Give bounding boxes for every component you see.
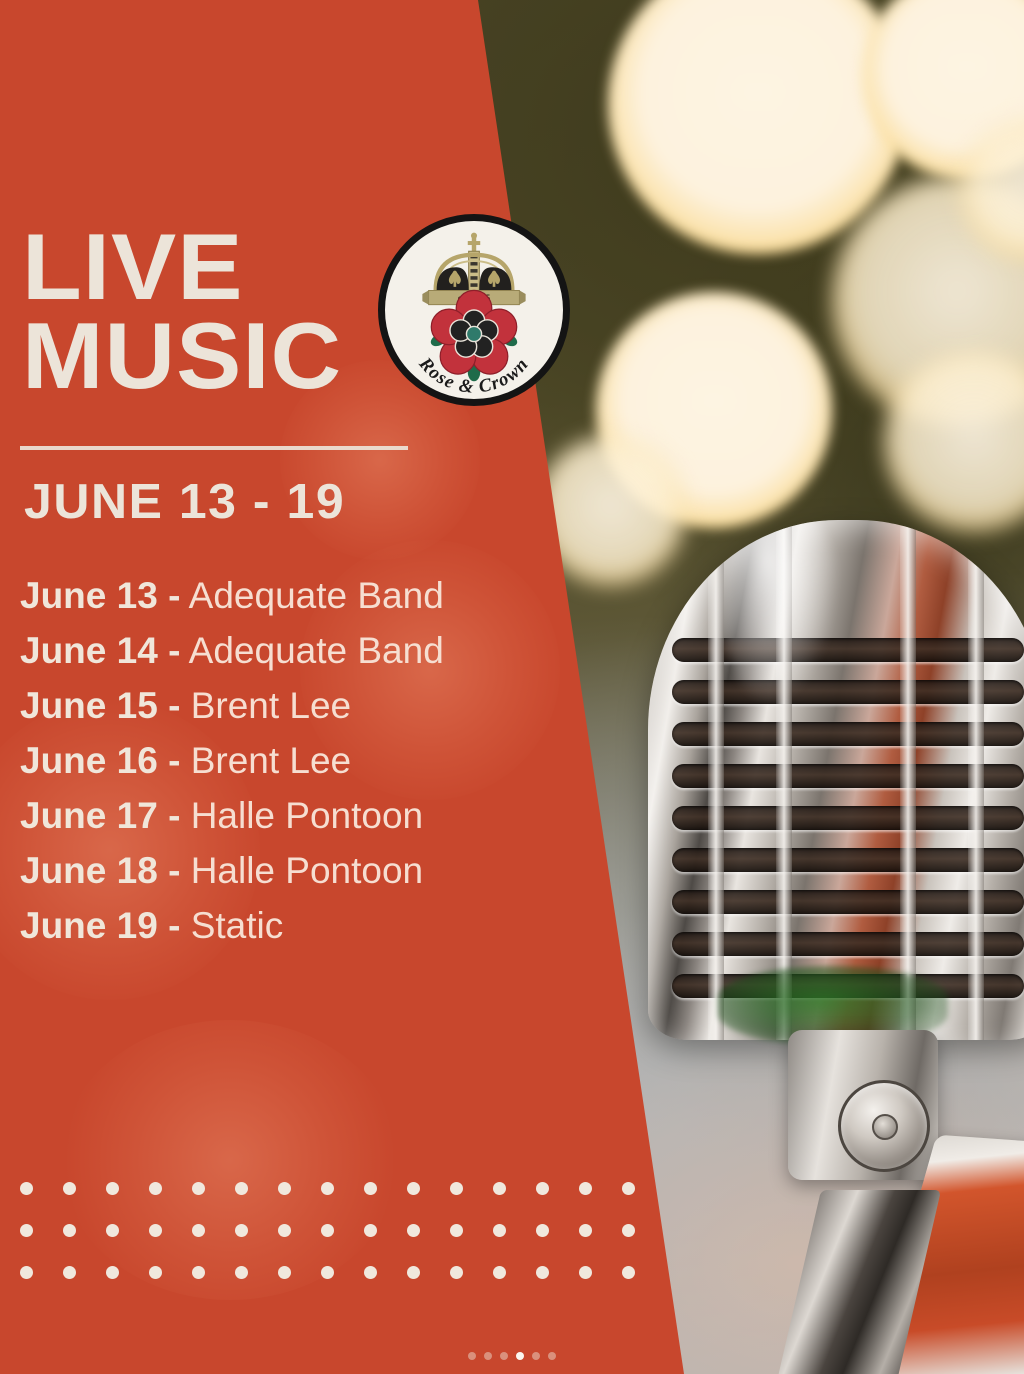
schedule-act: Brent Lee [191,685,351,726]
schedule-date: June 14 [20,630,158,671]
divider [20,446,408,450]
rose-and-crown-logo: est. 1965 [378,214,570,406]
decor-dot [278,1266,291,1279]
decor-dot [364,1266,377,1279]
decor-dot [321,1182,334,1195]
live-music-poster: LIVE MUSIC JUNE 13 - 19 June 13 - Adequa… [0,0,1024,1374]
decor-dot [235,1266,248,1279]
schedule-date: June 15 [20,685,158,726]
decor-dot [106,1182,119,1195]
list-item: June 15 - Brent Lee [20,678,540,733]
decor-dot [493,1182,506,1195]
decor-dot [321,1266,334,1279]
pagination-indicator[interactable] [0,1352,1024,1360]
decor-dot [149,1224,162,1237]
decor-dot [106,1266,119,1279]
decor-dot [321,1224,334,1237]
list-item: June 19 - Static [20,898,540,953]
decor-dot [63,1182,76,1195]
decor-dot [364,1224,377,1237]
headline-line-2: MUSIC [22,311,342,400]
schedule-date: June 16 [20,740,158,781]
decor-dot [20,1224,33,1237]
date-range: JUNE 13 - 19 [24,474,345,530]
pagination-dot[interactable] [548,1352,556,1360]
dot-pattern-decoration [20,1182,665,1308]
decor-dot [493,1266,506,1279]
decor-dot [579,1182,592,1195]
schedule-list: June 13 - Adequate Band June 14 - Adequa… [20,568,540,953]
pagination-dot[interactable] [516,1352,524,1360]
decor-dot [536,1182,549,1195]
list-item: June 14 - Adequate Band [20,623,540,678]
decor-dot [579,1266,592,1279]
schedule-separator: - [168,575,180,616]
decor-dot [20,1182,33,1195]
schedule-separator: - [168,685,180,726]
schedule-date: June 19 [20,905,158,946]
decor-dot [450,1182,463,1195]
decor-dot [192,1266,205,1279]
list-item: June 13 - Adequate Band [20,568,540,623]
decor-dot [235,1224,248,1237]
decor-dot [192,1224,205,1237]
poster-content: LIVE MUSIC JUNE 13 - 19 June 13 - Adequa… [0,0,560,1374]
decor-dot [149,1266,162,1279]
decor-dot [63,1266,76,1279]
pagination-dot[interactable] [500,1352,508,1360]
decor-dot [579,1224,592,1237]
schedule-act: Halle Pontoon [191,850,423,891]
decor-dot [20,1266,33,1279]
decor-dot [235,1182,248,1195]
decor-dot [407,1224,420,1237]
microphone-head [648,520,1024,1040]
schedule-act: Brent Lee [191,740,351,781]
schedule-act: Halle Pontoon [191,795,423,836]
list-item: June 18 - Halle Pontoon [20,843,540,898]
decor-dot [536,1266,549,1279]
decor-dot [149,1182,162,1195]
decor-dot [278,1182,291,1195]
decor-dot [622,1266,635,1279]
schedule-act: Adequate Band [189,630,444,671]
schedule-separator: - [168,795,180,836]
list-item: June 16 - Brent Lee [20,733,540,788]
decor-dot [622,1224,635,1237]
decor-dot [106,1224,119,1237]
pagination-dot[interactable] [468,1352,476,1360]
schedule-act: Static [191,905,284,946]
decor-dot [63,1224,76,1237]
decor-dot [450,1266,463,1279]
schedule-separator: - [168,740,180,781]
page-title: LIVE MUSIC [22,222,342,401]
decor-dot [450,1224,463,1237]
schedule-separator: - [168,850,180,891]
decor-dot [536,1224,549,1237]
schedule-separator: - [168,630,180,671]
microphone-swivel-knob [838,1080,930,1172]
list-item: June 17 - Halle Pontoon [20,788,540,843]
decor-dot [364,1182,377,1195]
pagination-dot[interactable] [484,1352,492,1360]
schedule-date: June 13 [20,575,158,616]
schedule-act: Adequate Band [189,575,444,616]
decor-dot [493,1224,506,1237]
decor-dot [622,1182,635,1195]
decor-dot [407,1182,420,1195]
decor-dot [407,1266,420,1279]
pagination-dot[interactable] [532,1352,540,1360]
decor-dot [192,1182,205,1195]
decor-dot [278,1224,291,1237]
schedule-separator: - [168,905,180,946]
schedule-date: June 18 [20,850,158,891]
schedule-date: June 17 [20,795,158,836]
